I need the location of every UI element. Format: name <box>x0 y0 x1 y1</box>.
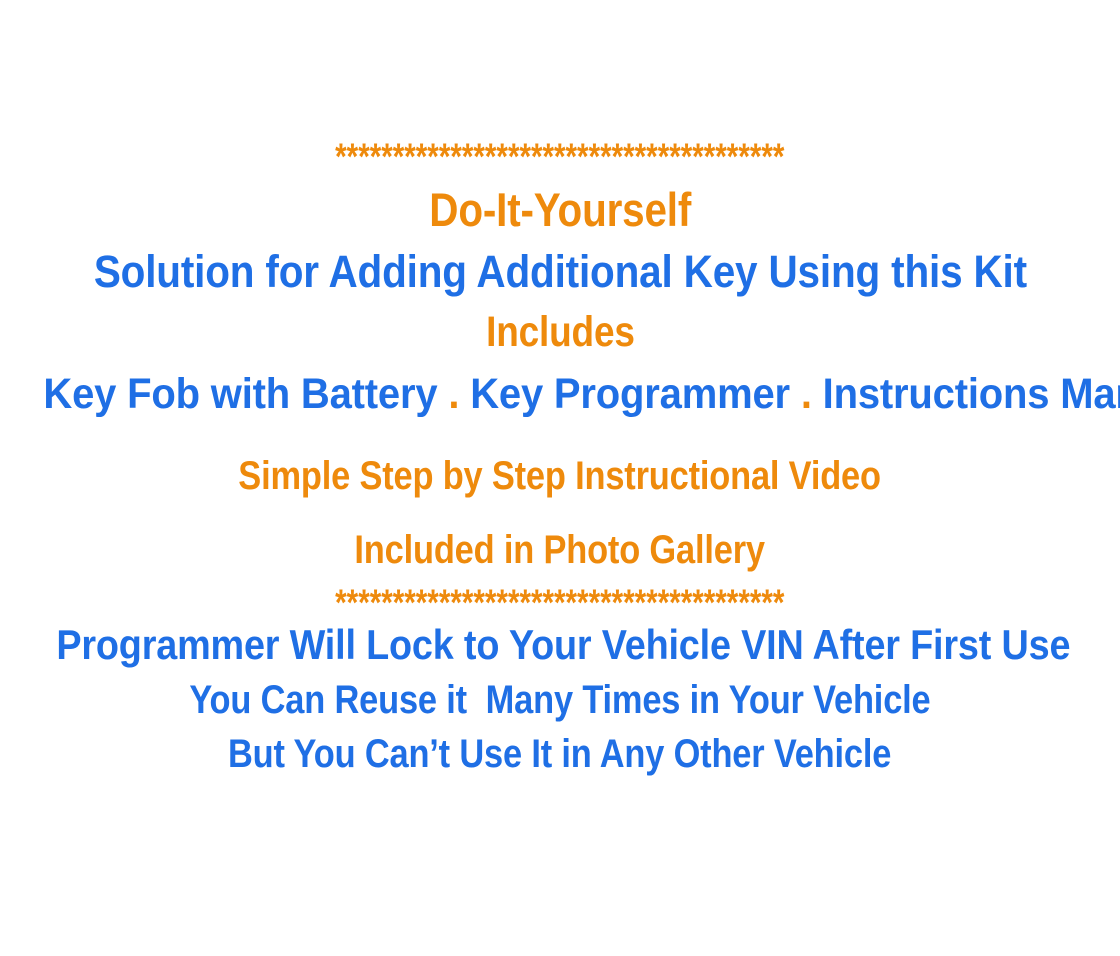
promo-card: *************************************** … <box>0 0 1120 956</box>
kit-contents-separator-1: . <box>448 370 459 418</box>
kit-content-item-key-fob: Key Fob with Battery <box>43 370 437 418</box>
headline-do-it-yourself: Do-It-Yourself <box>0 186 1120 233</box>
kit-contents-spacer-3 <box>790 370 801 418</box>
notice-line-reuse-text: You Can Reuse it Many Times in Your Vehi… <box>189 680 930 720</box>
photo-gallery-text: Included in Photo Gallery <box>355 530 765 570</box>
includes-label-text: Includes <box>486 311 635 354</box>
kit-contents-inner: Key Fob with Battery . Key Programmer . … <box>43 373 1120 416</box>
kit-contents-spacer-2 <box>459 370 470 418</box>
kit-content-item-programmer: Key Programmer <box>470 370 790 418</box>
divider-asterisks-bottom: *************************************** <box>0 584 1120 621</box>
notice-line-vin-lock: Programmer Will Lock to Your Vehicle VIN… <box>0 624 1120 666</box>
kit-contents-spacer-4 <box>812 370 823 418</box>
notice-line-vin-lock-text: Programmer Will Lock to Your Vehicle VIN… <box>56 624 1070 666</box>
instructional-video-line: Simple Step by Step Instructional Video <box>0 456 1120 496</box>
headline-text: Do-It-Yourself <box>429 186 691 233</box>
notice-line-no-other-vehicle-text: But You Can’t Use It in Any Other Vehicl… <box>228 734 891 774</box>
notice-line-reuse: You Can Reuse it Many Times in Your Vehi… <box>0 680 1120 720</box>
instructional-video-text: Simple Step by Step Instructional Video <box>239 456 882 496</box>
subheadline-text: Solution for Adding Additional Key Using… <box>93 249 1026 294</box>
kit-content-item-manual: Instructions Manual <box>823 370 1120 418</box>
notice-line-no-other-vehicle: But You Can’t Use It in Any Other Vehicl… <box>0 734 1120 774</box>
photo-gallery-line: Included in Photo Gallery <box>0 530 1120 570</box>
kit-contents-separator-2: . <box>801 370 812 418</box>
subheadline-solution: Solution for Adding Additional Key Using… <box>0 249 1120 294</box>
kit-contents-spacer-1 <box>437 370 448 418</box>
kit-contents-line: Key Fob with Battery . Key Programmer . … <box>0 373 1120 416</box>
includes-label: Includes <box>0 311 1120 354</box>
divider-asterisks-top: *************************************** <box>0 138 1120 175</box>
divider-asterisks-top-text: *************************************** <box>335 138 784 175</box>
divider-asterisks-bottom-text: *************************************** <box>335 584 784 621</box>
